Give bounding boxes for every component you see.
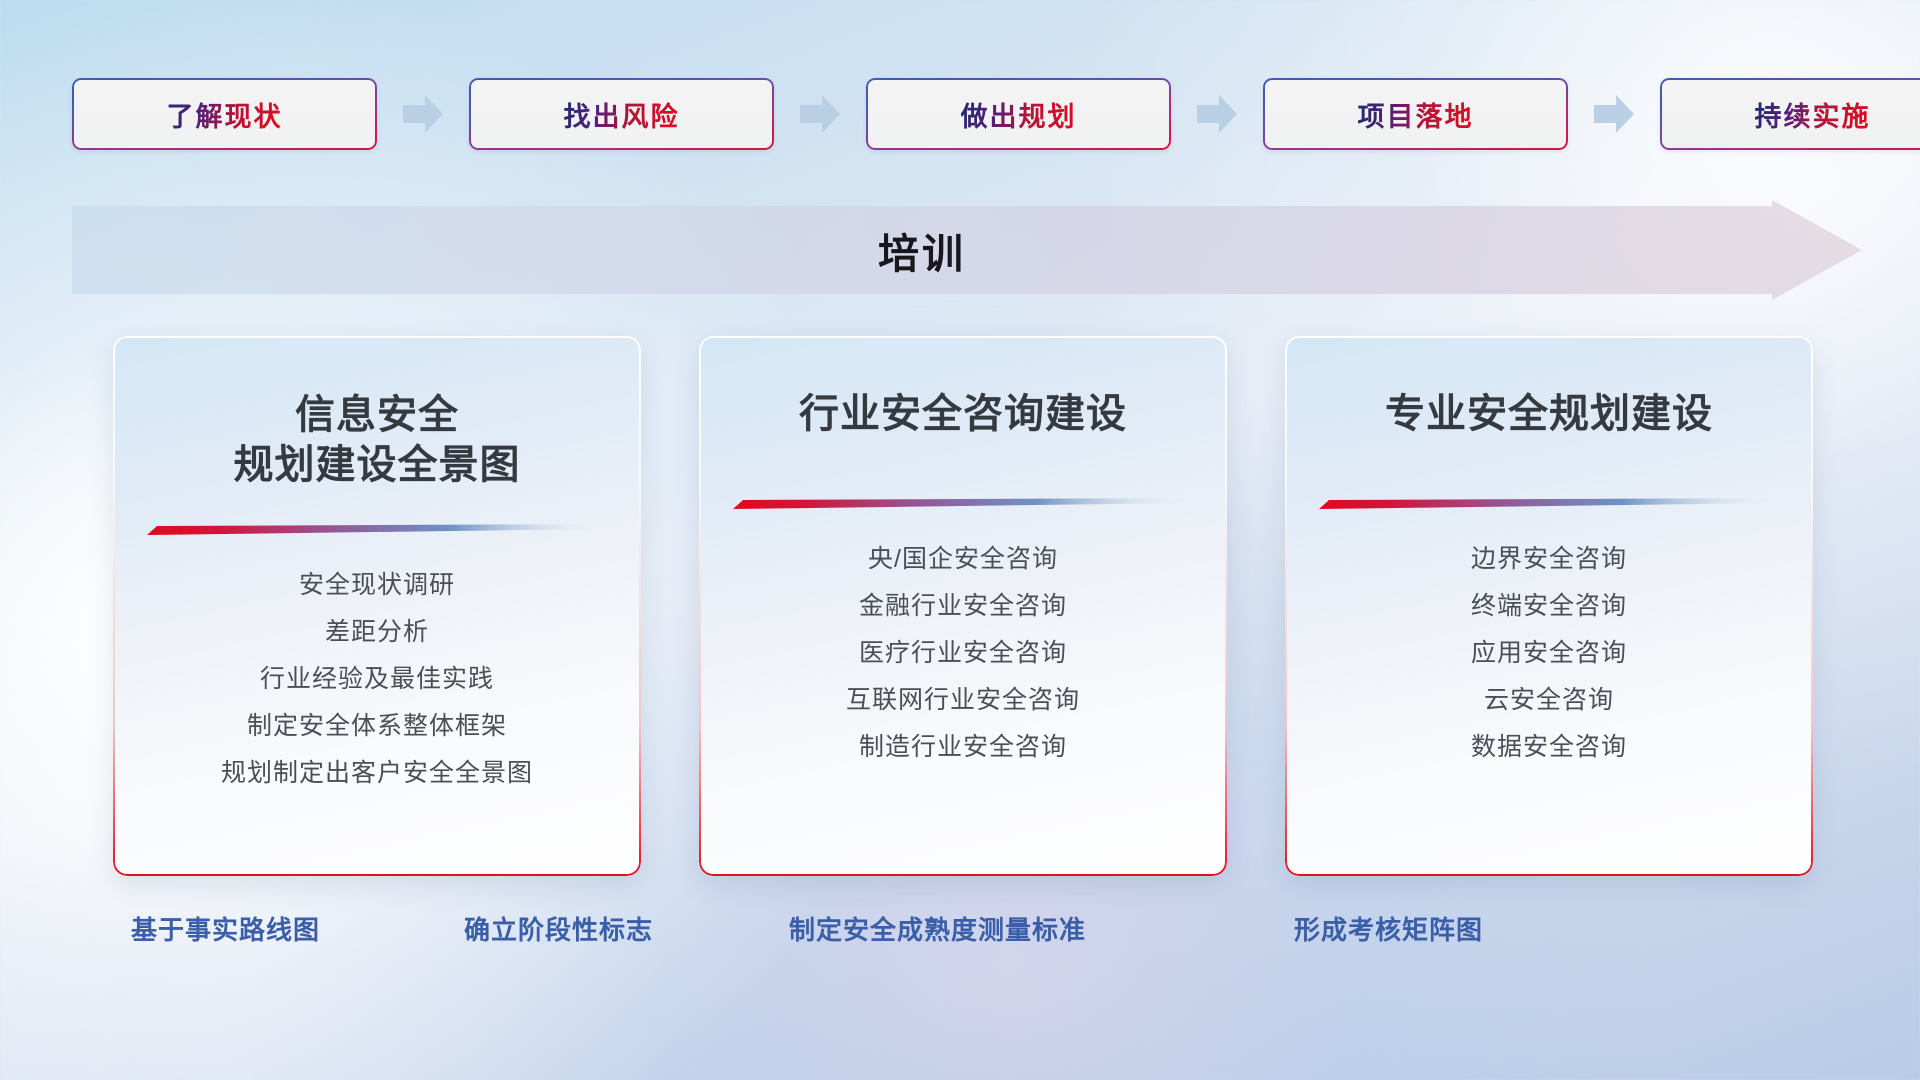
slide-stage: 了解现状 找出风险 做出规划 项目落地 持续实施 (0, 0, 1920, 1080)
list-item: 金融行业安全咨询 (733, 583, 1193, 630)
process-step-label: 做出规划 (961, 95, 1077, 134)
process-step-row: 了解现状 找出风险 做出规划 项目落地 持续实施 (72, 78, 1852, 150)
list-item: 差距分析 (147, 609, 607, 656)
card-row: 信息安全 规划建设全景图 (113, 336, 1813, 876)
card-information-security-blueprint[interactable]: 信息安全 规划建设全景图 (113, 336, 641, 876)
caption-row: 基于事实路线图 确立阶段性标志 制定安全成熟度测量标准 形成考核矩阵图 (0, 910, 1920, 956)
card-item-list: 边界安全咨询 终端安全咨询 应用安全咨询 云安全咨询 数据安全咨询 (1319, 510, 1779, 771)
arrow-right-icon (1197, 95, 1237, 133)
card-item-list: 安全现状调研 差距分析 行业经验及最佳实践 制定安全体系整体框架 规划制定出客户… (147, 536, 607, 797)
card-professional-security-planning[interactable]: 专业安全规划建设 (1285, 336, 1813, 876)
process-step-3[interactable]: 项目落地 (1263, 78, 1568, 150)
card-title: 信息安全 规划建设全景图 (147, 336, 607, 508)
card-title: 专业安全规划建设 (1319, 336, 1779, 482)
card-item-list: 央/国企安全咨询 金融行业安全咨询 医疗行业安全咨询 互联网行业安全咨询 制造行… (733, 510, 1193, 771)
list-item: 央/国企安全咨询 (733, 536, 1193, 583)
gradient-wedge-divider (1319, 496, 1779, 510)
arrow-right-icon (800, 95, 840, 133)
caption-assessment-matrix: 形成考核矩阵图 (1294, 910, 1483, 947)
banner-title: 培训 (72, 200, 1772, 300)
process-step-label: 持续实施 (1755, 95, 1871, 134)
list-item: 规划制定出客户安全全景图 (147, 750, 607, 797)
process-step-label: 了解现状 (167, 95, 283, 134)
caption-milestones: 确立阶段性标志 (464, 910, 653, 947)
list-item: 数据安全咨询 (1319, 724, 1779, 771)
process-step-label: 找出风险 (564, 95, 680, 134)
list-item: 制定安全体系整体框架 (147, 703, 607, 750)
process-step-4[interactable]: 持续实施 (1660, 78, 1920, 150)
list-item: 安全现状调研 (147, 562, 607, 609)
gradient-wedge-divider (147, 522, 607, 536)
list-item: 互联网行业安全咨询 (733, 677, 1193, 724)
list-item: 行业经验及最佳实践 (147, 656, 607, 703)
process-step-0[interactable]: 了解现状 (72, 78, 377, 150)
process-step-2[interactable]: 做出规划 (866, 78, 1171, 150)
list-item: 终端安全咨询 (1319, 583, 1779, 630)
training-banner: 培训 (72, 200, 1862, 300)
gradient-wedge-divider (733, 496, 1193, 510)
list-item: 云安全咨询 (1319, 677, 1779, 724)
list-item: 边界安全咨询 (1319, 536, 1779, 583)
list-item: 制造行业安全咨询 (733, 724, 1193, 771)
card-industry-security-consulting[interactable]: 行业安全咨询建设 (699, 336, 1227, 876)
arrow-right-icon (1594, 95, 1634, 133)
card-title: 行业安全咨询建设 (733, 336, 1193, 482)
list-item: 应用安全咨询 (1319, 630, 1779, 677)
arrow-right-icon (403, 95, 443, 133)
list-item: 医疗行业安全咨询 (733, 630, 1193, 677)
caption-maturity-standard: 制定安全成熟度测量标准 (789, 910, 1086, 947)
caption-roadmap: 基于事实路线图 (131, 910, 320, 947)
process-step-1[interactable]: 找出风险 (469, 78, 774, 150)
process-step-label: 项目落地 (1358, 95, 1474, 134)
